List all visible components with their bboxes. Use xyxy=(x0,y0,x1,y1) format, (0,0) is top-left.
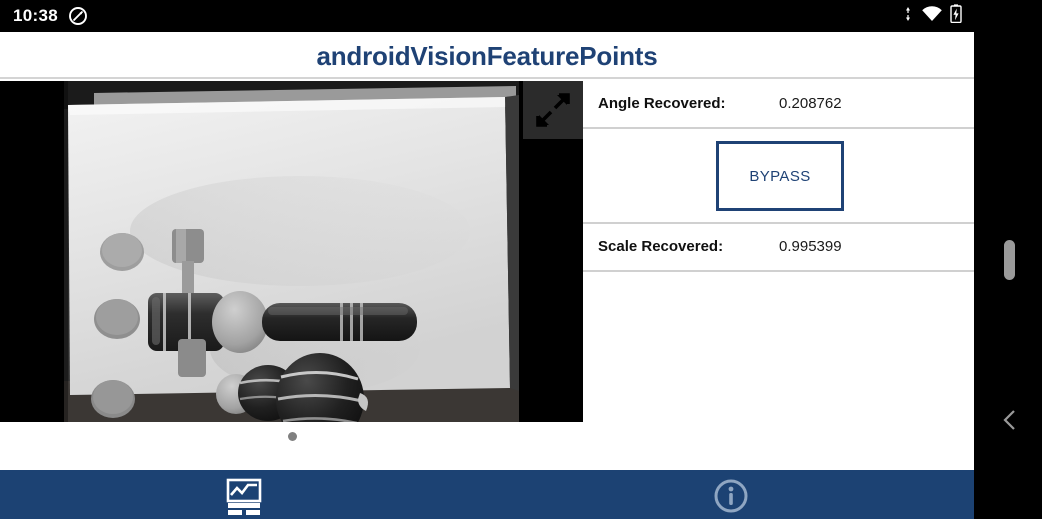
angle-recovered-value: 0.208762 xyxy=(779,95,842,112)
info-circle-icon xyxy=(711,478,751,519)
app-window: androidVisionFeaturePoints xyxy=(0,32,974,519)
expand-fullscreen-button[interactable] xyxy=(523,81,583,139)
page-indicator-strip xyxy=(0,422,583,470)
chart-panel-icon xyxy=(224,478,264,519)
battery-charging-icon xyxy=(950,4,962,28)
status-icons xyxy=(905,6,962,26)
page-title: androidVisionFeaturePoints xyxy=(0,41,974,72)
bypass-row: BYPASS xyxy=(583,129,974,224)
device-screen: 10:38 xyxy=(0,0,1042,519)
vertical-scrollbar-thumb[interactable] xyxy=(1004,240,1015,280)
bypass-button[interactable]: BYPASS xyxy=(716,141,844,211)
nav-item-app[interactable]: App xyxy=(0,470,487,519)
camera-preview-image xyxy=(0,81,583,422)
rotation-lock-icon xyxy=(68,6,88,26)
nav-item-info[interactable]: Info xyxy=(487,470,974,519)
scale-recovered-label: Scale Recovered: xyxy=(598,238,723,255)
angle-recovered-row: Angle Recovered: 0.208762 xyxy=(583,81,974,129)
data-transfer-icon xyxy=(905,5,914,28)
angle-recovered-label: Angle Recovered: xyxy=(598,95,726,112)
expand-icon xyxy=(533,90,573,130)
chevron-left-icon[interactable] xyxy=(1000,408,1020,432)
scale-recovered-value: 0.995399 xyxy=(779,238,842,255)
page-indicator-dot[interactable] xyxy=(288,432,297,441)
scale-recovered-row: Scale Recovered: 0.995399 xyxy=(583,224,974,272)
status-bar: 10:38 xyxy=(0,0,1042,32)
bottom-navigation-bar: App Info xyxy=(0,470,974,519)
wifi-icon xyxy=(921,5,943,28)
app-title-bar: androidVisionFeaturePoints xyxy=(0,32,974,79)
system-side-strip xyxy=(974,32,1042,519)
status-clock: 10:38 xyxy=(13,6,58,26)
camera-preview-panel[interactable] xyxy=(0,81,583,422)
measurements-panel: Angle Recovered: 0.208762 BYPASS Scale R… xyxy=(583,81,974,470)
main-content: Angle Recovered: 0.208762 BYPASS Scale R… xyxy=(0,81,974,470)
